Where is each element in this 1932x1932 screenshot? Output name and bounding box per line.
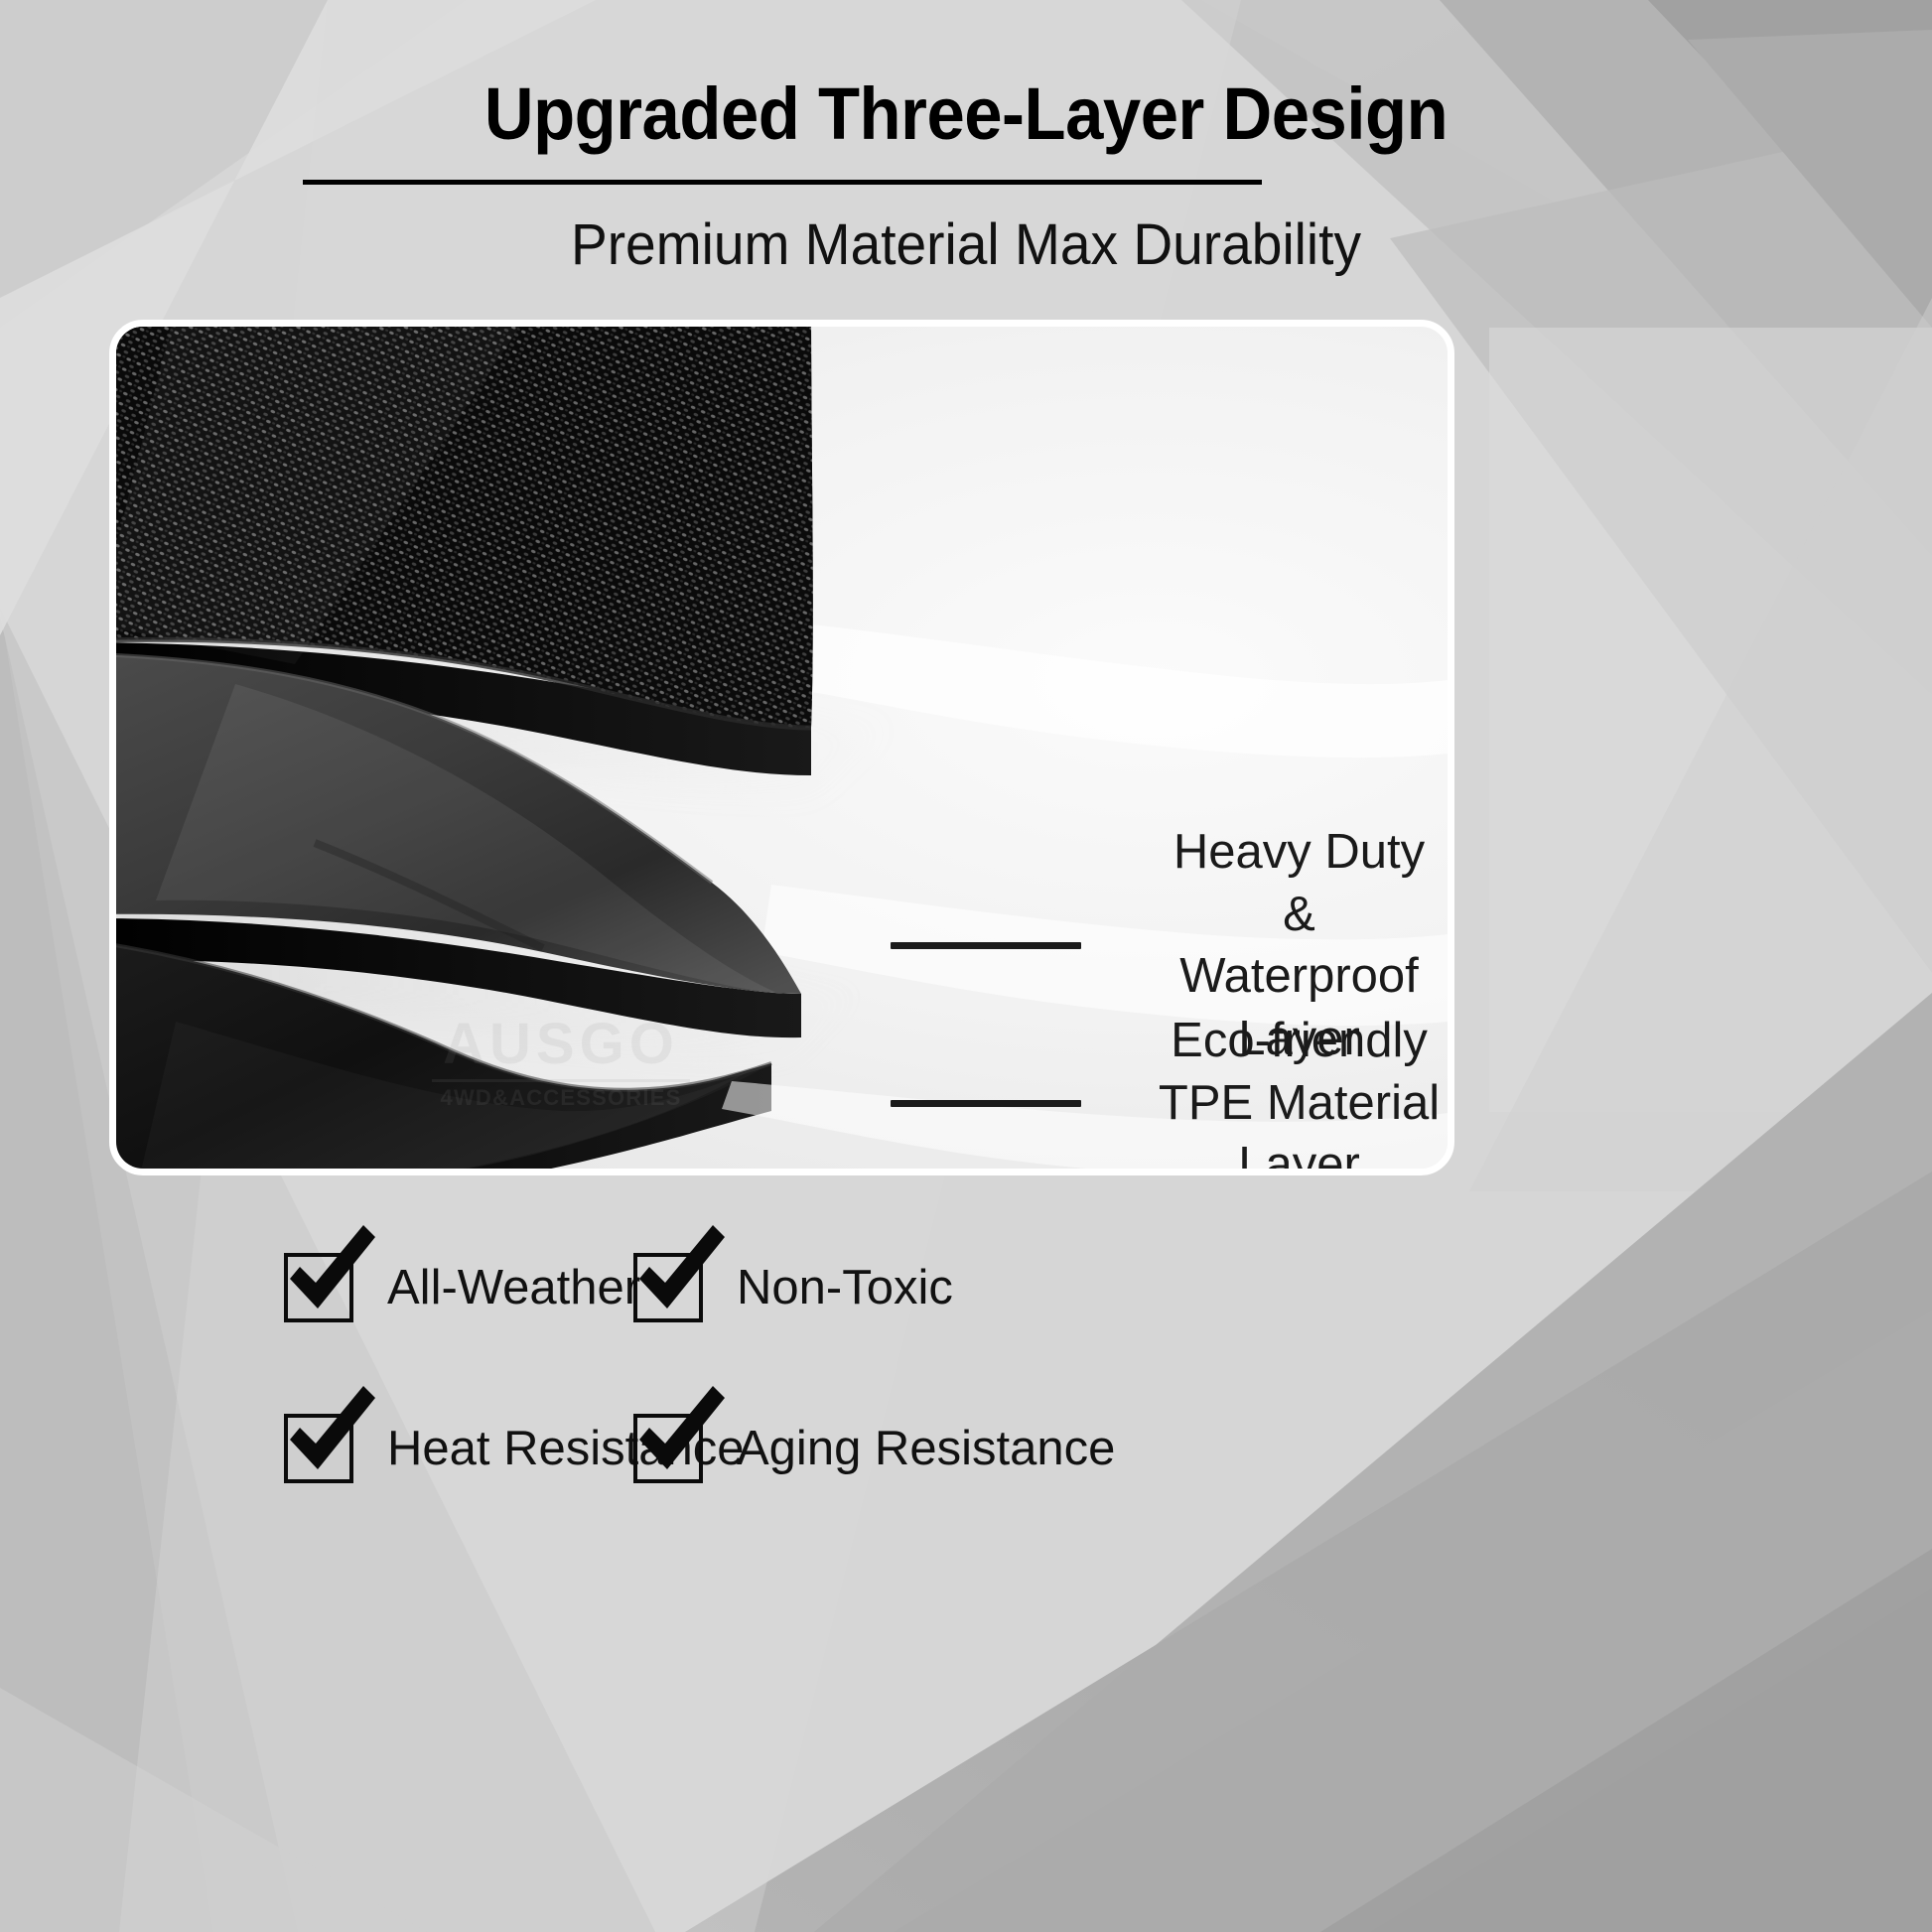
title-divider <box>303 180 1262 185</box>
header: Upgraded Three-Layer Design <box>0 0 1932 151</box>
feature-non-toxic[interactable]: Non-Toxic <box>633 1253 1249 1322</box>
checkmark-icon[interactable] <box>284 1414 353 1483</box>
feature-row-1: All-Weather Non-Toxic <box>0 1253 1932 1322</box>
page-subtitle: Premium Material Max Durability <box>49 216 1884 274</box>
callout-label-2: Eco-friendly TPE Material Layer <box>1151 1010 1448 1175</box>
feature-all-weather[interactable]: All-Weather <box>0 1253 616 1322</box>
checkmark-icon[interactable] <box>633 1414 703 1483</box>
check-glyph <box>629 1388 733 1491</box>
check-glyph <box>280 1227 383 1330</box>
feature-heat-resistance[interactable]: Heat Resistance <box>0 1414 616 1483</box>
checkmark-icon[interactable] <box>284 1253 353 1322</box>
feature-checklist: All-Weather Non-Toxic Heat Resistance <box>0 1253 1932 1483</box>
checkmark-icon[interactable] <box>633 1253 703 1322</box>
product-image-panel: AUSGO 4WD&ACCESSORIES Heavy Duty & Water… <box>109 320 1454 1175</box>
leader-line-2 <box>891 1100 1081 1107</box>
feature-label: Non-Toxic <box>737 1264 953 1312</box>
infographic-canvas: Upgraded Three-Layer Design Premium Mate… <box>0 0 1932 1932</box>
feature-label: Aging Resistance <box>737 1425 1115 1473</box>
check-glyph <box>280 1388 383 1491</box>
page-title: Upgraded Three-Layer Design <box>68 0 1864 151</box>
leader-line-1 <box>891 942 1081 949</box>
check-glyph <box>629 1227 733 1330</box>
feature-aging-resistance[interactable]: Aging Resistance <box>633 1414 1249 1483</box>
feature-label: All-Weather <box>387 1264 640 1312</box>
feature-row-2: Heat Resistance Aging Resistance <box>0 1414 1932 1483</box>
callout-eco-friendly-tpe: Eco-friendly TPE Material Layer <box>891 1010 1448 1175</box>
